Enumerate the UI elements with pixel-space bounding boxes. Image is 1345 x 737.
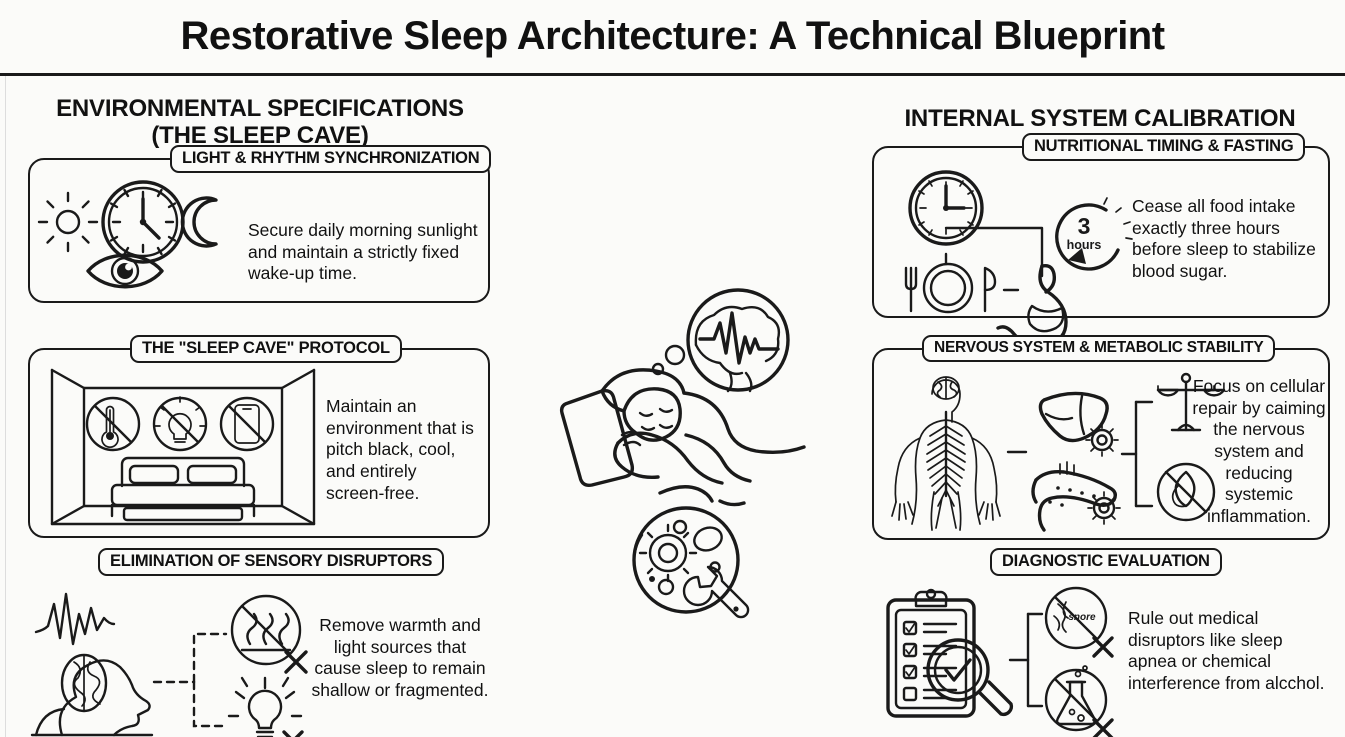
card-label-nervous-system: NERVOUS SYSTEM & METABOLIC STABILITY [922,335,1275,362]
head-brain-icon [32,655,152,735]
right-heading-line-1: INTERNAL SYSTEM CALIBRATION [865,106,1335,133]
three-hours-timer-icon: 3 hours [1044,196,1136,282]
x-mark [284,732,302,737]
disruptor-connectors [154,634,226,726]
sensory-disruptors-artwork [28,590,328,737]
liver-gear-icon [1040,393,1118,456]
sun-icon [39,193,97,251]
card-label-nutritional-timing: NUTRITIONAL TIMING & FASTING [1022,133,1305,161]
no-snore-icon: snore [1046,588,1112,656]
card-diagnostic-evaluation[interactable]: DIAGNOSTIC EVALUATION [872,556,1330,737]
moon-icon [182,198,216,246]
left-edge-rule [5,76,6,737]
nervous-system-artwork [886,368,1216,530]
cell-repair-gear-wrench-icon [634,508,748,617]
card-nervous-system-metabolic-stability[interactable]: NERVOUS SYSTEM & METABOLIC STABILITY [872,348,1330,540]
card-text-sensory-disruptors: Remove warmth and light sources that cau… [310,615,490,702]
card-label-sensory-disruptors: ELIMINATION OF SENSORY DISRUPTORS [98,548,444,576]
sleeping-woman-icon [562,370,804,505]
clock-icon [910,172,982,244]
card-text-sleep-cave: Maintain an environment that is pitch bl… [326,396,476,504]
gear-icon [640,525,696,581]
center-artwork [560,295,820,625]
wrench-icon [684,567,748,617]
eye-icon-wrap [82,248,182,294]
infographic-page: Restorative Sleep Architecture: A Techni… [0,0,1345,737]
clipboard-checklist-icon [888,590,974,716]
room-icon [52,370,314,524]
title-bar: Restorative Sleep Architecture: A Techni… [0,0,1345,76]
diagnostic-bracket [1010,614,1042,706]
cutlery-plate-icon [906,264,995,312]
no-flask-icon [1046,666,1112,737]
sleep-cave-artwork [48,366,318,528]
organ-outcome-bracket [1122,402,1152,506]
x-mark [1094,720,1112,737]
x-mark [1094,638,1112,656]
card-light-rhythm-synchronization[interactable]: LIGHT & RHYTHM SYNCHRONIZATION [28,158,490,303]
card-nutritional-timing-fasting[interactable]: NUTRITIONAL TIMING & FASTING [872,146,1330,318]
pancreas-gear-icon [1033,462,1120,530]
eye-icon [82,248,182,294]
no-heat-icon [232,596,306,672]
brainwave-icon [36,594,114,644]
left-heading-line-1: ENVIRONMENTAL SPECIFICATIONS [20,96,500,123]
card-sleep-cave-protocol[interactable]: THE "SLEEP CAVE" PROTOCOL [28,348,490,538]
no-thermometer-icon [87,398,139,450]
diagnostic-artwork: snore [882,586,1132,736]
x-mark [286,652,306,672]
right-column-heading: INTERNAL SYSTEM CALIBRATION [865,106,1335,133]
lightbulb-x-icon [229,678,302,737]
left-column-heading: ENVIRONMENTAL SPECIFICATIONS (THE SLEEP … [20,96,500,150]
no-phone-icon [221,398,273,450]
card-text-nervous-system: Focus on cellular repair by caiming the … [1190,376,1328,528]
card-label-sleep-cave: THE "SLEEP CAVE" PROTOCOL [130,335,402,363]
no-lightbulb-icon [154,397,206,450]
badge-number: 3 [1078,213,1091,239]
page-title: Restorative Sleep Architecture: A Techni… [180,14,1164,59]
card-text-diagnostic-evaluation: Rule out medical disruptors like sleep a… [1128,608,1328,695]
nervous-system-icon [892,377,1000,530]
card-label-diagnostic-evaluation: DIAGNOSTIC EVALUATION [990,548,1222,576]
brain-eeg-icon [688,290,788,391]
bed-icon [112,458,254,520]
card-text-nutritional-timing: Cease all food intake exactly three hour… [1132,196,1328,283]
card-label-light-rhythm: LIGHT & RHYTHM SYNCHRONIZATION [170,145,491,173]
card-elimination-sensory-disruptors[interactable]: ELIMINATION OF SENSORY DISRUPTORS [28,560,490,737]
card-text-light-rhythm: Secure daily morning sunlight and mainta… [248,220,480,285]
badge-unit: hours [1067,238,1102,252]
